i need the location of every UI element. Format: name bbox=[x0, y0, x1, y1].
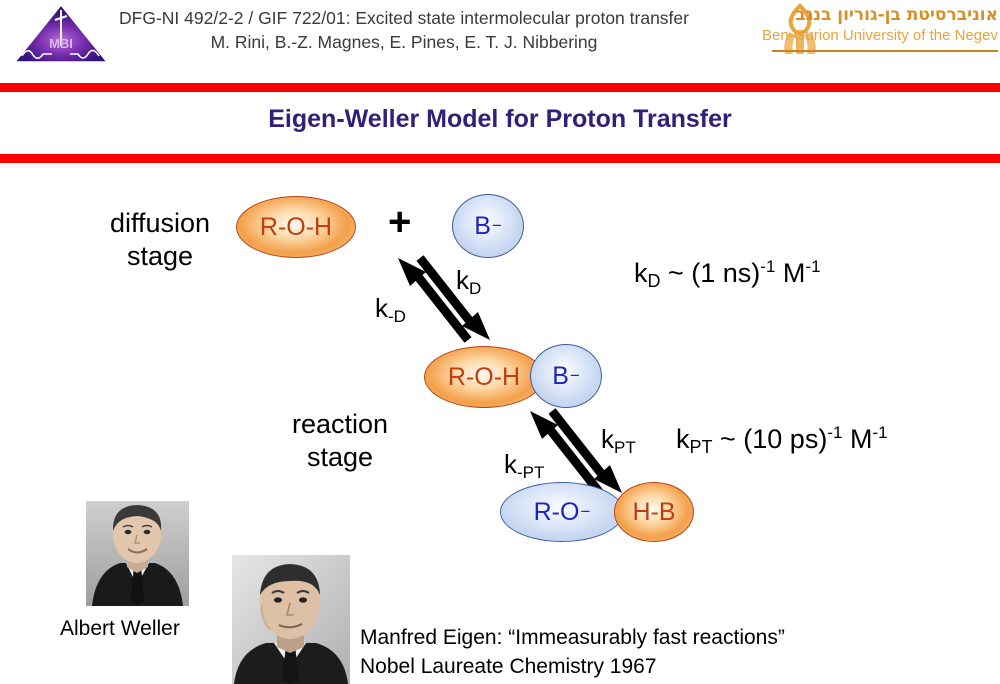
molecule-b-label: B bbox=[474, 212, 491, 241]
rate-k-minus-d-sub: -D bbox=[388, 307, 406, 326]
rate-k-minus-pt: k-PT bbox=[504, 449, 544, 480]
molecule-b-complex-label: B bbox=[552, 362, 569, 391]
bgu-hebrew-text: אוניברסיטת בן-גוריון בנגב bbox=[795, 5, 998, 25]
molecule-roh-complex: R-O-H bbox=[424, 346, 544, 408]
diffusion-stage-label: diffusion stage bbox=[70, 207, 250, 273]
equation-kd: kD ~ (1 ns)-1 M-1 bbox=[634, 258, 821, 289]
caption-eigen-line2: Nobel Laureate Chemistry 1967 bbox=[360, 652, 785, 681]
rate-k-minus-d-base: k bbox=[375, 293, 388, 323]
equation-kd-exp2: -1 bbox=[805, 257, 820, 276]
slide-root: MBI DFG-NI 492/2-2 / GIF 722/01: Excited… bbox=[0, 0, 1000, 684]
diffusion-label-line1: diffusion bbox=[70, 207, 250, 240]
page-title: Eigen-Weller Model for Proton Transfer bbox=[0, 105, 1000, 134]
equation-kpt-molar: M bbox=[842, 424, 872, 454]
plus-operator: + bbox=[388, 200, 411, 245]
equation-kpt-base: k bbox=[676, 424, 690, 454]
rate-k-pt-base: k bbox=[601, 424, 614, 454]
equation-kpt-exp2: -1 bbox=[872, 423, 887, 442]
bgu-underline bbox=[772, 50, 998, 52]
molecule-hb-product: H-B bbox=[614, 482, 694, 542]
diffusion-label-line2: stage bbox=[70, 240, 250, 273]
caption-manfred-eigen: Manfred Eigen: “Immeasurably fast reacti… bbox=[360, 623, 785, 681]
bgu-logo: אוניברסיטת בן-גוריון בנגב Ben-Gurion Uni… bbox=[772, 2, 998, 68]
molecule-b-minus-complex: B− bbox=[530, 344, 602, 408]
molecule-ro-minus-product: R-O− bbox=[500, 482, 624, 542]
portrait-manfred-eigen bbox=[232, 555, 350, 684]
rate-k-minus-pt-sub: -PT bbox=[517, 463, 544, 482]
equation-kd-exp1: -1 bbox=[760, 257, 775, 276]
equation-kpt-exp1: -1 bbox=[827, 423, 842, 442]
rate-k-d-base: k bbox=[456, 265, 469, 295]
molecule-b-minus-reactant: B− bbox=[452, 194, 524, 258]
molecule-roh-reactant: R-O-H bbox=[236, 196, 356, 258]
rate-k-minus-pt-base: k bbox=[504, 449, 517, 479]
mbi-logo-text: MBI bbox=[49, 36, 73, 51]
rate-k-d: kD bbox=[456, 265, 481, 296]
reaction-label-line2: stage bbox=[240, 441, 440, 474]
caption-eigen-line1: Manfred Eigen: “Immeasurably fast reacti… bbox=[360, 623, 785, 652]
reaction-stage-label: reaction stage bbox=[240, 408, 440, 474]
equation-kd-base: k bbox=[634, 258, 648, 288]
reaction-label-line1: reaction bbox=[240, 408, 440, 441]
rate-k-pt: kPT bbox=[601, 424, 636, 455]
equation-kd-molar: M bbox=[775, 258, 805, 288]
molecule-ro-label: R-O bbox=[534, 498, 580, 527]
equation-kpt: kPT ~ (10 ps)-1 M-1 bbox=[676, 424, 888, 455]
rate-k-pt-sub: PT bbox=[614, 438, 636, 457]
red-divider-top bbox=[0, 83, 1000, 92]
portrait-albert-weller bbox=[86, 501, 189, 606]
equation-kpt-value: ~ (10 ps) bbox=[713, 424, 828, 454]
red-divider-bottom bbox=[0, 154, 1000, 163]
molecule-roh-complex-label: R-O-H bbox=[448, 363, 520, 392]
header-project-text: DFG-NI 492/2-2 / GIF 722/01: Excited sta… bbox=[96, 6, 712, 54]
molecule-hb-label: H-B bbox=[632, 498, 675, 527]
rate-k-minus-d: k-D bbox=[375, 293, 406, 324]
equation-kd-sub: D bbox=[648, 271, 661, 291]
rate-k-d-sub: D bbox=[469, 279, 481, 298]
bgu-english-text: Ben-Gurion University of the Negev bbox=[762, 27, 998, 44]
molecule-roh-label: R-O-H bbox=[260, 213, 332, 242]
equation-kd-value: ~ (1 ns) bbox=[661, 258, 761, 288]
caption-albert-weller: Albert Weller bbox=[60, 617, 180, 641]
equation-kpt-sub: PT bbox=[690, 437, 713, 457]
header-line-1: DFG-NI 492/2-2 / GIF 722/01: Excited sta… bbox=[96, 6, 712, 30]
header-line-2: M. Rini, B.-Z. Magnes, E. Pines, E. T. J… bbox=[96, 30, 712, 54]
